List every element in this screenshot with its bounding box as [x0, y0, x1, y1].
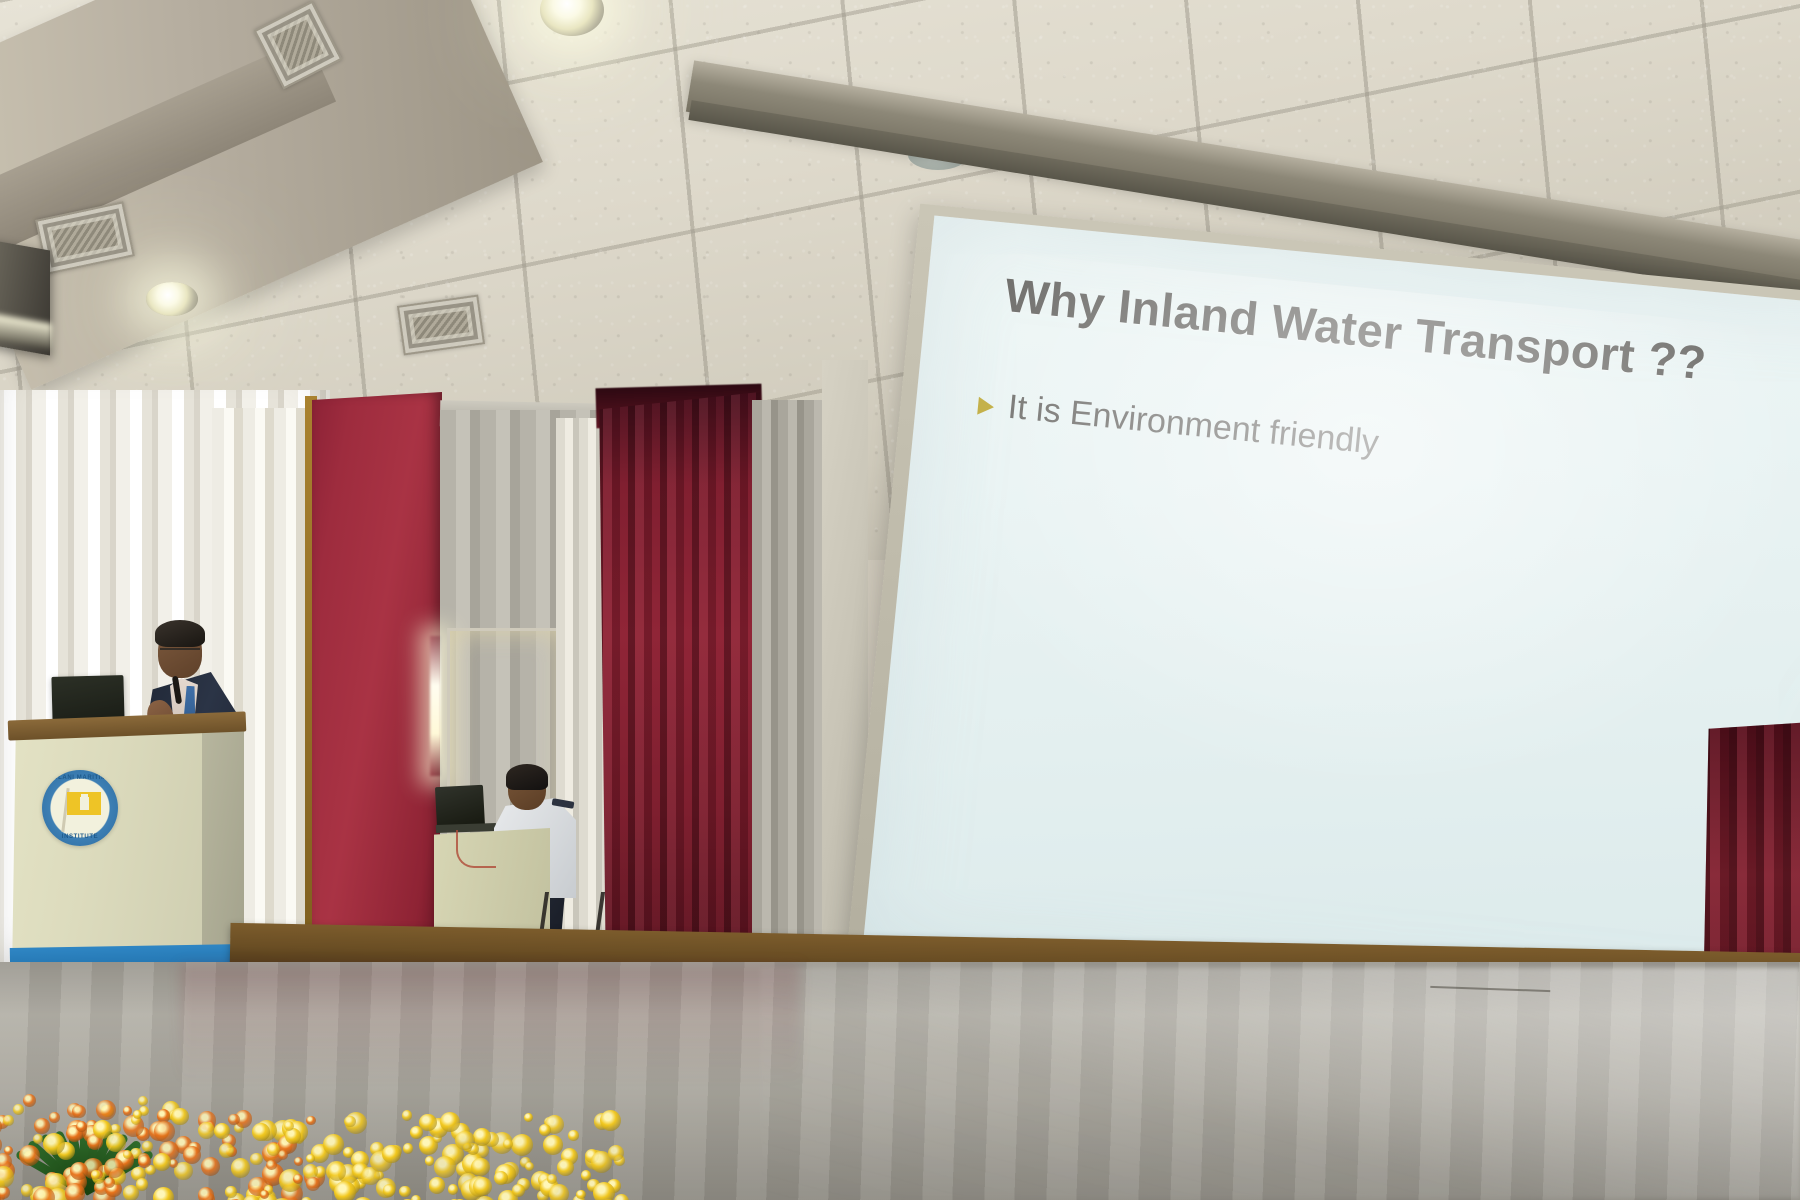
- marigold-icon: [198, 1122, 215, 1139]
- marigold-icon: [524, 1113, 533, 1122]
- marigold-icon: [425, 1156, 434, 1165]
- marigold-icon: [403, 1143, 414, 1154]
- downlight-icon: [146, 282, 198, 316]
- arrow-bullet-icon: [977, 397, 995, 416]
- marigold-icon: [183, 1146, 201, 1164]
- speaker-hair: [155, 620, 205, 647]
- marigold-icon: [402, 1110, 412, 1120]
- marigold-icon: [123, 1185, 139, 1200]
- emblem-top-text: TOLANI MARITIME: [42, 775, 118, 781]
- institute-emblem: TOLANI MARITIME INSTITUTE: [42, 770, 118, 846]
- marigold-icon: [3, 1115, 14, 1126]
- marigold-icon: [0, 1136, 2, 1153]
- marigold-icon: [65, 1183, 85, 1200]
- marigold-icon: [557, 1159, 574, 1176]
- door-light-strip: [430, 636, 441, 776]
- marigold-icon: [512, 1184, 525, 1197]
- marigold-icon: [142, 1141, 152, 1151]
- av-cable: [456, 830, 496, 868]
- marigold-icon: [284, 1121, 294, 1131]
- marigold-icon: [306, 1116, 315, 1125]
- marigold-icon: [547, 1174, 557, 1184]
- slide-bullet-item: It is Environment friendly: [976, 385, 1380, 463]
- grey-pleated-curtain: [752, 400, 830, 960]
- marigold-icon: [334, 1181, 356, 1200]
- slide-title: Why Inland Water Transport ??: [1002, 267, 1708, 390]
- marigold-icon: [123, 1106, 132, 1115]
- marigold-icon: [70, 1162, 88, 1180]
- marigold-icon: [153, 1187, 174, 1200]
- marigold-icon: [600, 1110, 621, 1131]
- slide-content: Why Inland Water Transport ?? It is Envi…: [862, 216, 1800, 1049]
- marigold-garland: [0, 1096, 620, 1200]
- marigold-icon: [34, 1118, 50, 1134]
- marigold-icon: [411, 1195, 421, 1200]
- marigold-icon: [91, 1170, 100, 1179]
- marigold-icon: [344, 1116, 356, 1128]
- marigold-icon: [440, 1112, 460, 1132]
- projection-screen[interactable]: Why Inland Water Transport ?? It is Envi…: [862, 216, 1800, 1049]
- glasses-icon: [160, 648, 200, 659]
- marigold-icon: [23, 1094, 36, 1107]
- operator-hair: [506, 764, 548, 790]
- marigold-icon: [231, 1158, 251, 1178]
- marigold-icon: [49, 1112, 60, 1123]
- marigold-icon: [399, 1186, 411, 1198]
- marigold-icon: [473, 1177, 493, 1197]
- marigold-icon: [471, 1158, 489, 1176]
- marigold-icon: [252, 1123, 270, 1141]
- floor-reflection: [760, 968, 1800, 1198]
- marigold-icon: [198, 1187, 214, 1200]
- marigold-icon: [104, 1158, 124, 1178]
- marigold-icon: [21, 1184, 33, 1196]
- marigold-icon: [0, 1186, 10, 1199]
- maroon-drape-center: [596, 392, 760, 972]
- emblem-bottom-text: INSTITUTE: [42, 834, 118, 840]
- marigold-icon: [434, 1156, 456, 1178]
- marigold-icon: [455, 1131, 474, 1150]
- marigold-icon: [383, 1184, 395, 1196]
- marigold-icon: [225, 1186, 236, 1197]
- marigold-icon: [568, 1130, 578, 1140]
- marigold-icon: [511, 1134, 534, 1157]
- marigold-icon: [96, 1100, 116, 1120]
- marigold-icon: [267, 1143, 280, 1156]
- marigold-icon: [581, 1170, 591, 1180]
- marigold-icon: [106, 1133, 126, 1153]
- marigold-icon: [549, 1184, 569, 1200]
- marigold-icon: [306, 1154, 315, 1163]
- marigold-icon: [266, 1160, 276, 1170]
- marigold-icon: [576, 1190, 585, 1199]
- av-laptop[interactable]: [435, 785, 485, 829]
- flag-mark-icon: [80, 797, 89, 810]
- marigold-icon: [201, 1157, 220, 1176]
- marigold-icon: [448, 1184, 459, 1195]
- marigold-icon: [72, 1105, 86, 1119]
- marigold-icon: [123, 1150, 132, 1159]
- presentation-hall-photo: Why Inland Water Transport ?? It is Envi…: [0, 0, 1800, 1200]
- podium: [12, 724, 202, 974]
- marigold-icon: [33, 1187, 54, 1200]
- marigold-icon: [19, 1145, 40, 1166]
- marigold-icon: [323, 1134, 344, 1155]
- marigold-icon: [294, 1157, 303, 1166]
- marigold-icon: [154, 1121, 175, 1142]
- marigold-icon: [473, 1128, 491, 1146]
- marigold-icon: [593, 1182, 616, 1200]
- marigold-icon: [382, 1145, 400, 1163]
- marigold-icon: [293, 1174, 303, 1184]
- crimson-acoustic-panel: [312, 392, 442, 962]
- marigold-icon: [539, 1124, 551, 1136]
- marigold-icon: [429, 1177, 446, 1194]
- floor-reflection: [180, 964, 800, 1084]
- marigold-icon: [306, 1177, 320, 1191]
- marigold-icon: [138, 1155, 151, 1168]
- marigold-icon: [250, 1153, 263, 1166]
- slide-bullet-text: It is Environment friendly: [1006, 388, 1380, 463]
- marigold-icon: [171, 1108, 188, 1125]
- marigold-icon: [43, 1133, 65, 1155]
- marigold-icon: [153, 1153, 171, 1171]
- marigold-icon: [543, 1135, 562, 1154]
- marigold-icon: [328, 1162, 346, 1180]
- marigold-icon: [525, 1162, 534, 1171]
- marigold-icon: [494, 1171, 508, 1185]
